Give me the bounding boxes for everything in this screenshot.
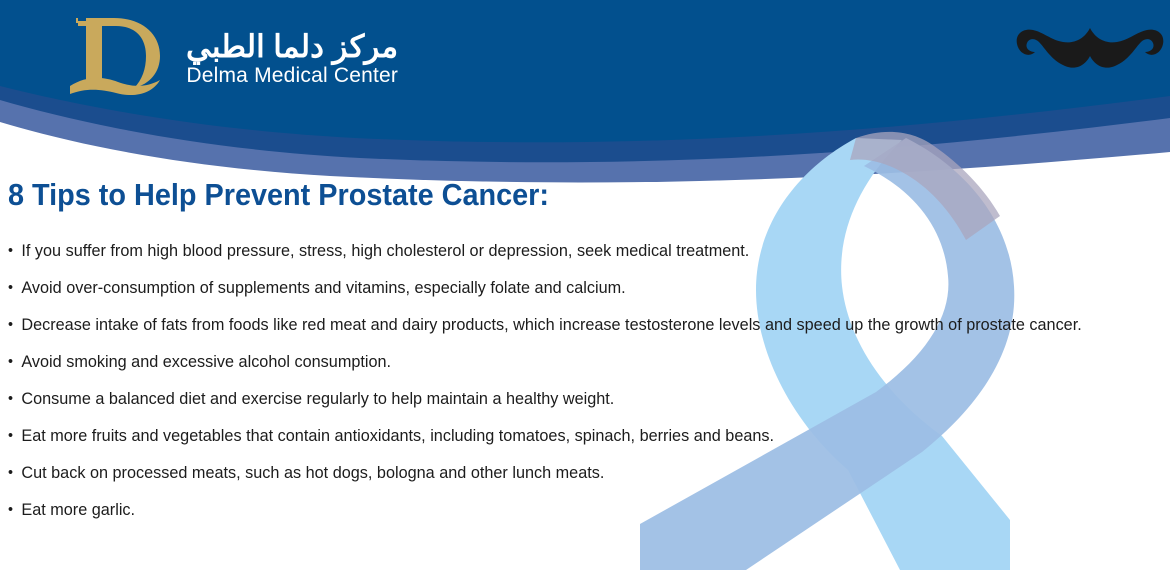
tip-item: Consume a balanced diet and exercise reg… bbox=[8, 380, 1118, 417]
tip-item: Decrease intake of fats from foods like … bbox=[8, 306, 1118, 343]
brand-name-block: مركز دلما الطبي Delma Medical Center bbox=[186, 14, 398, 88]
tip-item: If you suffer from high blood pressure, … bbox=[8, 232, 1118, 269]
logo-monogram-icon bbox=[68, 14, 180, 98]
page-title: 8 Tips to Help Prevent Prostate Cancer: bbox=[8, 176, 1089, 214]
prostate-cancer-awareness-poster: مركز دلما الطبي Delma Medical Center 8 T… bbox=[0, 0, 1170, 570]
brand-name-english: Delma Medical Center bbox=[186, 64, 398, 88]
tip-item: Cut back on processed meats, such as hot… bbox=[8, 454, 1118, 491]
content-area: 8 Tips to Help Prevent Prostate Cancer: … bbox=[0, 176, 1170, 528]
mustache-icon bbox=[1015, 16, 1165, 87]
brand-logo: مركز دلما الطبي Delma Medical Center bbox=[68, 14, 398, 98]
tip-item: Eat more fruits and vegetables that cont… bbox=[8, 417, 1118, 454]
brand-name-arabic: مركز دلما الطبي bbox=[186, 30, 398, 64]
tip-item: Avoid over-consumption of supplements an… bbox=[8, 269, 1118, 306]
tip-item: Avoid smoking and excessive alcohol cons… bbox=[8, 343, 1118, 380]
tip-item: Eat more garlic. bbox=[8, 491, 1118, 528]
tips-list: If you suffer from high blood pressure, … bbox=[0, 232, 1170, 528]
